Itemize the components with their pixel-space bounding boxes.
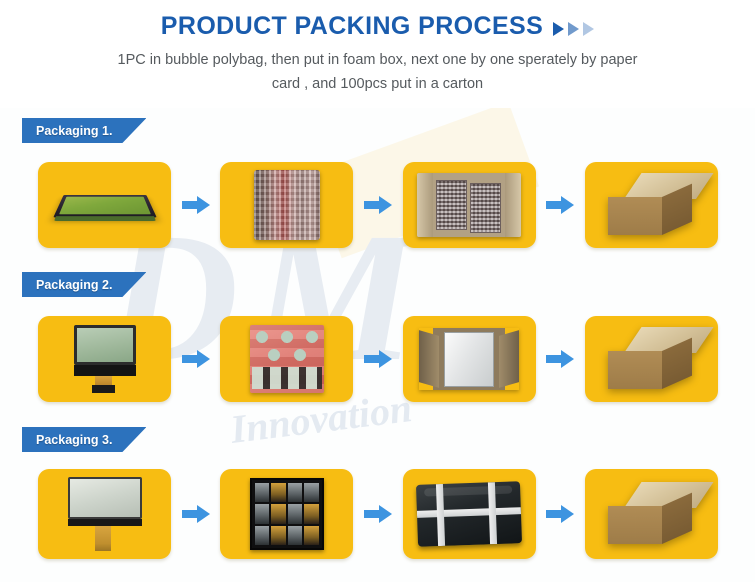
- triangle-right-icon-group: [553, 22, 594, 36]
- packaging-row-3-steps: [38, 469, 718, 559]
- packaging-row-1-banner: Packaging 1.: [22, 118, 146, 143]
- page-header: PRODUCT PACKING PROCESS 1PC in bubble po…: [0, 0, 755, 108]
- arrow-right-icon: [364, 350, 392, 368]
- arrow-slot: [353, 196, 402, 214]
- arrow-slot: [536, 350, 585, 368]
- arrow-right-icon: [182, 505, 210, 523]
- triangle-right-icon: [553, 22, 564, 36]
- sealed-carton-box-image: [608, 482, 694, 546]
- sealed-carton-box-image: [608, 327, 694, 391]
- packaging-row-1-steps: [38, 162, 718, 248]
- arrow-right-icon: [364, 505, 392, 523]
- arrow-slot: [353, 505, 402, 523]
- packaging-row-2-banner: Packaging 2.: [22, 272, 146, 297]
- arrow-right-icon: [546, 505, 574, 523]
- pink-blister-tray-image: [250, 325, 324, 393]
- step-card-black-tray-grid[interactable]: [220, 469, 353, 559]
- bubble-polybag-image: [254, 170, 320, 240]
- step-card-sealed-carton-box[interactable]: [585, 316, 718, 402]
- arrow-slot: [353, 350, 402, 368]
- arrow-slot: [171, 350, 220, 368]
- sealed-carton-box-image: [608, 173, 694, 237]
- lcd-module-flex-image: [74, 325, 136, 393]
- page-subtitle: 1PC in bubble polybag, then put in foam …: [58, 49, 698, 97]
- step-card-sealed-carton-box[interactable]: [585, 469, 718, 559]
- arrow-slot: [536, 196, 585, 214]
- subtitle-line-1: 1PC in bubble polybag, then put in foam …: [58, 49, 698, 73]
- packaging-row-3: Packaging 3.: [0, 427, 755, 582]
- step-card-pink-blister-tray[interactable]: [220, 316, 353, 402]
- strapped-black-stack-image: [416, 481, 522, 547]
- page-title: PRODUCT PACKING PROCESS: [161, 12, 543, 41]
- open-carton-white-product-image: [419, 328, 519, 390]
- foam-box-open-carton-image: [417, 173, 521, 237]
- step-card-sealed-carton-box[interactable]: [585, 162, 718, 248]
- triangle-right-icon: [568, 22, 579, 36]
- arrow-right-icon: [364, 196, 392, 214]
- step-card-foam-box-open-carton[interactable]: [403, 162, 536, 248]
- triangle-right-icon: [583, 22, 594, 36]
- arrow-slot: [536, 505, 585, 523]
- step-card-touch-panel-ribbon[interactable]: [38, 469, 171, 559]
- packaging-row-1: Packaging 1.: [0, 118, 755, 268]
- black-tray-grid-image: [250, 478, 324, 550]
- step-card-open-carton-white-product[interactable]: [403, 316, 536, 402]
- packaging-row-3-banner: Packaging 3.: [22, 427, 146, 452]
- packaging-row-2: Packaging 2.: [0, 272, 755, 422]
- packaging-row-2-steps: [38, 316, 718, 402]
- touch-panel-ribbon-image: [68, 477, 142, 551]
- arrow-slot: [171, 196, 220, 214]
- lcd-panel-green-image: [53, 195, 157, 218]
- step-card-strapped-black-stack[interactable]: [403, 469, 536, 559]
- step-card-lcd-panel-green[interactable]: [38, 162, 171, 248]
- arrow-right-icon: [546, 350, 574, 368]
- arrow-right-icon: [546, 196, 574, 214]
- arrow-right-icon: [182, 196, 210, 214]
- subtitle-line-2: card , and 100pcs put in a carton: [58, 73, 698, 97]
- step-card-bubble-polybag[interactable]: [220, 162, 353, 248]
- product-packing-process-page: DM Innovation PRODUCT PACKING PROCESS 1P…: [0, 0, 755, 582]
- title-row: PRODUCT PACKING PROCESS: [0, 0, 755, 41]
- arrow-right-icon: [182, 350, 210, 368]
- arrow-slot: [171, 505, 220, 523]
- step-card-lcd-module-flex[interactable]: [38, 316, 171, 402]
